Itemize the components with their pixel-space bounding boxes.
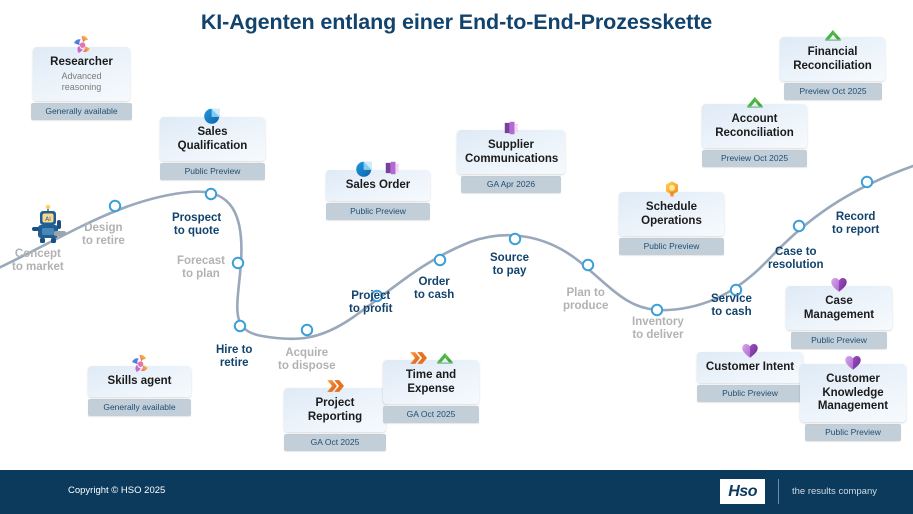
status-badge: Public Preview [791,332,887,349]
status-badge: Public Preview [326,203,430,220]
agent-card-financial-reconciliation[interactable]: Financial ReconciliationPreview Oct 2025 [780,37,885,100]
agent-card-body[interactable]: Schedule Operations [619,192,724,236]
agent-card-body[interactable]: Customer Knowledge Management [800,364,906,422]
copyright-text: Copyright © HSO 2025 [68,485,165,496]
stage-label: Concept to market [12,248,64,274]
stage-label: Order to cash [414,276,454,302]
agent-card-title: Researcher [41,56,122,70]
slide-canvas: KI-Agenten entlang einer End-to-End-Proz… [0,0,913,514]
agent-card-title: Skills agent [96,375,183,389]
agent-card-title: Project Reporting [292,397,378,424]
stage-label: Project to profit [349,290,392,316]
agent-card-project-reporting[interactable]: Project ReportingGA Oct 2025 [284,388,386,451]
process-node[interactable] [794,221,804,231]
agent-card-title: Time and Expense [391,369,471,396]
agent-card-body[interactable]: Customer Intent [697,352,803,383]
agent-card-body[interactable]: Time and Expense [383,360,479,404]
agent-card-customer-knowledge-management[interactable]: Customer Knowledge ManagementPublic Prev… [800,364,906,441]
agent-card-body[interactable]: Project Reporting [284,388,386,432]
agent-card-title: Account Reconciliation [710,113,799,140]
agent-card-body[interactable]: Sales Qualification [160,117,265,161]
agent-card-title: Customer Intent [705,361,795,375]
agent-card-body[interactable]: Financial Reconciliation [780,37,885,81]
process-node[interactable] [652,305,662,315]
status-badge: GA Oct 2025 [383,406,479,423]
agent-card-customer-intent[interactable]: Customer IntentPublic Preview [697,352,803,402]
agent-card-title: Sales Order [334,179,422,193]
agent-card-body[interactable]: Skills agent [88,366,191,397]
agent-card-subtitle: Advanced reasoning [41,71,122,93]
stage-label: Record to report [832,211,879,237]
agent-card-body[interactable]: ResearcherAdvanced reasoning [33,47,130,101]
process-node[interactable] [862,177,872,187]
agent-card-case-management[interactable]: Case ManagementPublic Preview [786,286,892,349]
hso-tagline: the results company [792,486,877,497]
status-badge: Public Preview [697,385,803,402]
footer-bar: Copyright © HSO 2025 Hso the results com… [0,470,913,514]
stage-label: Source to pay [490,252,529,278]
stage-label: Case to resolution [768,246,824,272]
status-badge: Public Preview [160,163,265,180]
status-badge: Generally available [88,399,191,416]
process-node[interactable] [510,234,520,244]
stage-label: Service to cash [711,293,752,319]
process-node[interactable] [235,321,245,331]
agent-card-sales-qualification[interactable]: Sales QualificationPublic Preview [160,117,265,180]
agent-card-account-reconciliation[interactable]: Account ReconciliationPreview Oct 2025 [702,104,807,167]
stage-label: Inventory to deliver [632,316,684,342]
hso-logo: Hso the results company [720,479,877,504]
agent-card-title: Case Management [794,295,884,322]
agent-card-time-and-expense[interactable]: Time and ExpenseGA Oct 2025 [383,360,479,423]
stage-label: Acquire to dispose [278,347,336,373]
agent-card-title: Financial Reconciliation [788,46,877,73]
status-badge: GA Apr 2026 [461,176,561,193]
process-node[interactable] [583,260,593,270]
status-badge: Public Preview [805,424,901,441]
agent-card-body[interactable]: Sales Order [326,170,430,201]
status-badge: Preview Oct 2025 [702,150,807,167]
agent-card-title: Customer Knowledge Management [808,373,898,414]
stage-label: Prospect to quote [172,212,221,238]
process-node[interactable] [233,258,243,268]
agent-card-title: Sales Qualification [168,126,257,153]
process-node[interactable] [435,255,445,265]
agent-card-body[interactable]: Supplier Communications [457,130,565,174]
process-node[interactable] [110,201,120,211]
stage-label: Plan to produce [563,287,608,313]
agent-card-title: Supplier Communications [465,139,557,166]
agent-card-body[interactable]: Account Reconciliation [702,104,807,148]
agent-card-supplier-communications[interactable]: Supplier CommunicationsGA Apr 2026 [457,130,565,193]
stage-label: Hire to retire [216,344,252,370]
status-badge: GA Oct 2025 [284,434,386,451]
agent-card-skills-agent[interactable]: Skills agentGenerally available [88,366,191,416]
status-badge: Generally available [31,103,132,120]
hso-logo-mark: Hso [720,479,765,504]
stage-label: Forecast to plan [177,255,225,281]
status-badge: Public Preview [619,238,724,255]
status-badge: Preview Oct 2025 [784,83,882,100]
logo-divider [778,479,779,504]
process-node[interactable] [302,325,312,335]
agent-card-body[interactable]: Case Management [786,286,892,330]
process-node[interactable] [206,189,216,199]
ai-robot-mascot: AI [26,203,70,245]
stage-label: Design to retire [82,222,125,248]
agent-card-sales-order[interactable]: Sales OrderPublic Preview [326,170,430,220]
agent-card-title: Schedule Operations [627,201,716,228]
agent-card-schedule-operations[interactable]: Schedule OperationsPublic Preview [619,192,724,255]
svg-text:AI: AI [45,216,51,223]
agent-card-researcher[interactable]: ResearcherAdvanced reasoningGenerally av… [33,47,130,120]
